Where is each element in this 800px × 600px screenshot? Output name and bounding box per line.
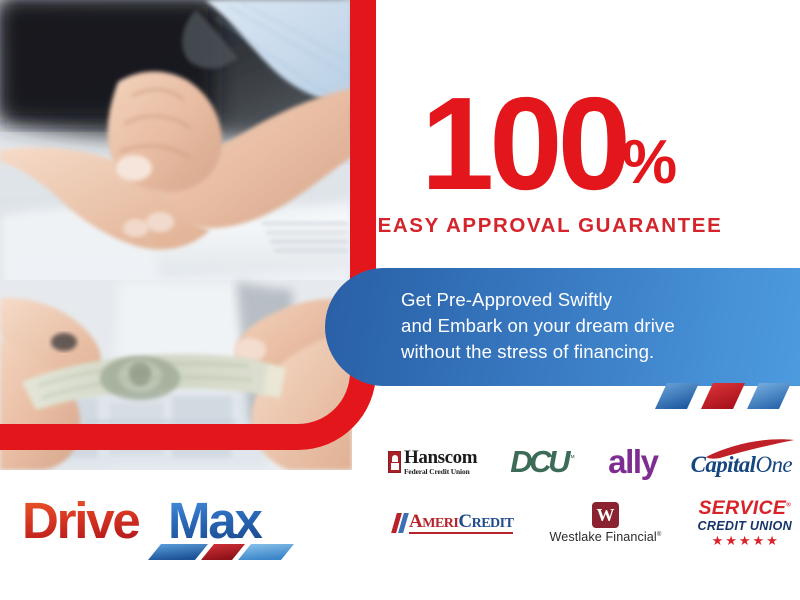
americredit-redit: REDIT: [472, 516, 514, 531]
promo-message: Get Pre-Approved Swiftly and Embark on y…: [401, 287, 675, 365]
partner-logo-ally[interactable]: ally: [608, 443, 657, 481]
service-stars-icon: ★★★★★: [712, 534, 778, 547]
partner-row-2: AMERICREDIT W Westlake Financial® SERVIC…: [388, 499, 792, 547]
headline-block: 100% EASY APPROVAL GUARANTEE: [370, 78, 730, 238]
westlake-tm: ®: [657, 532, 662, 538]
chevron-stripes-icon: [655, 381, 795, 411]
partner-row-1: Hanscom Federal Credit Union DCU™ ally C…: [388, 443, 792, 481]
americredit-c: C: [458, 511, 471, 532]
dcu-tm: ™: [567, 454, 575, 463]
partner-logo-americredit[interactable]: AMERICREDIT: [394, 512, 513, 534]
handshake-cash-photo: [0, 0, 352, 470]
westlake-w-mark-icon: W: [592, 502, 619, 528]
americredit-meri: MERI: [422, 516, 458, 531]
dcu-text: DCU: [510, 444, 567, 479]
partner-logo-hanscom[interactable]: Hanscom Federal Credit Union: [388, 448, 477, 475]
ally-text: ally: [608, 443, 657, 481]
partner-logos: Hanscom Federal Credit Union DCU™ ally C…: [388, 443, 792, 558]
service-word: SERVICE: [698, 497, 786, 519]
service-credit-union-text: CREDIT UNION: [697, 520, 792, 533]
hanscom-name: Hanscom: [404, 448, 477, 467]
logo-text-drive: Drive: [22, 492, 139, 549]
headline-percent-number: 100%: [421, 78, 679, 210]
headline-subtext: EASY APPROVAL GUARANTEE: [370, 214, 730, 238]
service-tm: ®: [786, 503, 791, 509]
percent-sign: %: [622, 128, 675, 197]
westlake-w: W: [596, 506, 614, 524]
westlake-name: Westlake Financial: [550, 530, 657, 544]
logo-text-max: Max: [168, 492, 262, 549]
message-pill: Get Pre-Approved Swiftly and Embark on y…: [325, 268, 800, 386]
hanscom-crest-icon: [388, 451, 401, 473]
hanscom-tagline: Federal Credit Union: [404, 468, 477, 475]
partner-logo-dcu[interactable]: DCU™: [510, 444, 575, 480]
partner-logo-service-credit-union[interactable]: SERVICE® CREDIT UNION ★★★★★: [697, 499, 792, 547]
number-value: 100: [421, 70, 626, 217]
logo-stripes-icon: [148, 544, 294, 560]
partner-logo-capital-one[interactable]: CapitalOne: [691, 446, 792, 478]
americredit-bars-icon: [391, 513, 409, 533]
drivemax-promo-banner: 100% EASY APPROVAL GUARANTEE Get Pre-App…: [0, 0, 800, 600]
capital-one-swoosh-icon: [704, 437, 796, 459]
partner-logo-westlake-financial[interactable]: W Westlake Financial®: [550, 502, 662, 544]
americredit-a: A: [409, 511, 422, 532]
drivemax-logo[interactable]: Drive Max: [22, 492, 312, 566]
